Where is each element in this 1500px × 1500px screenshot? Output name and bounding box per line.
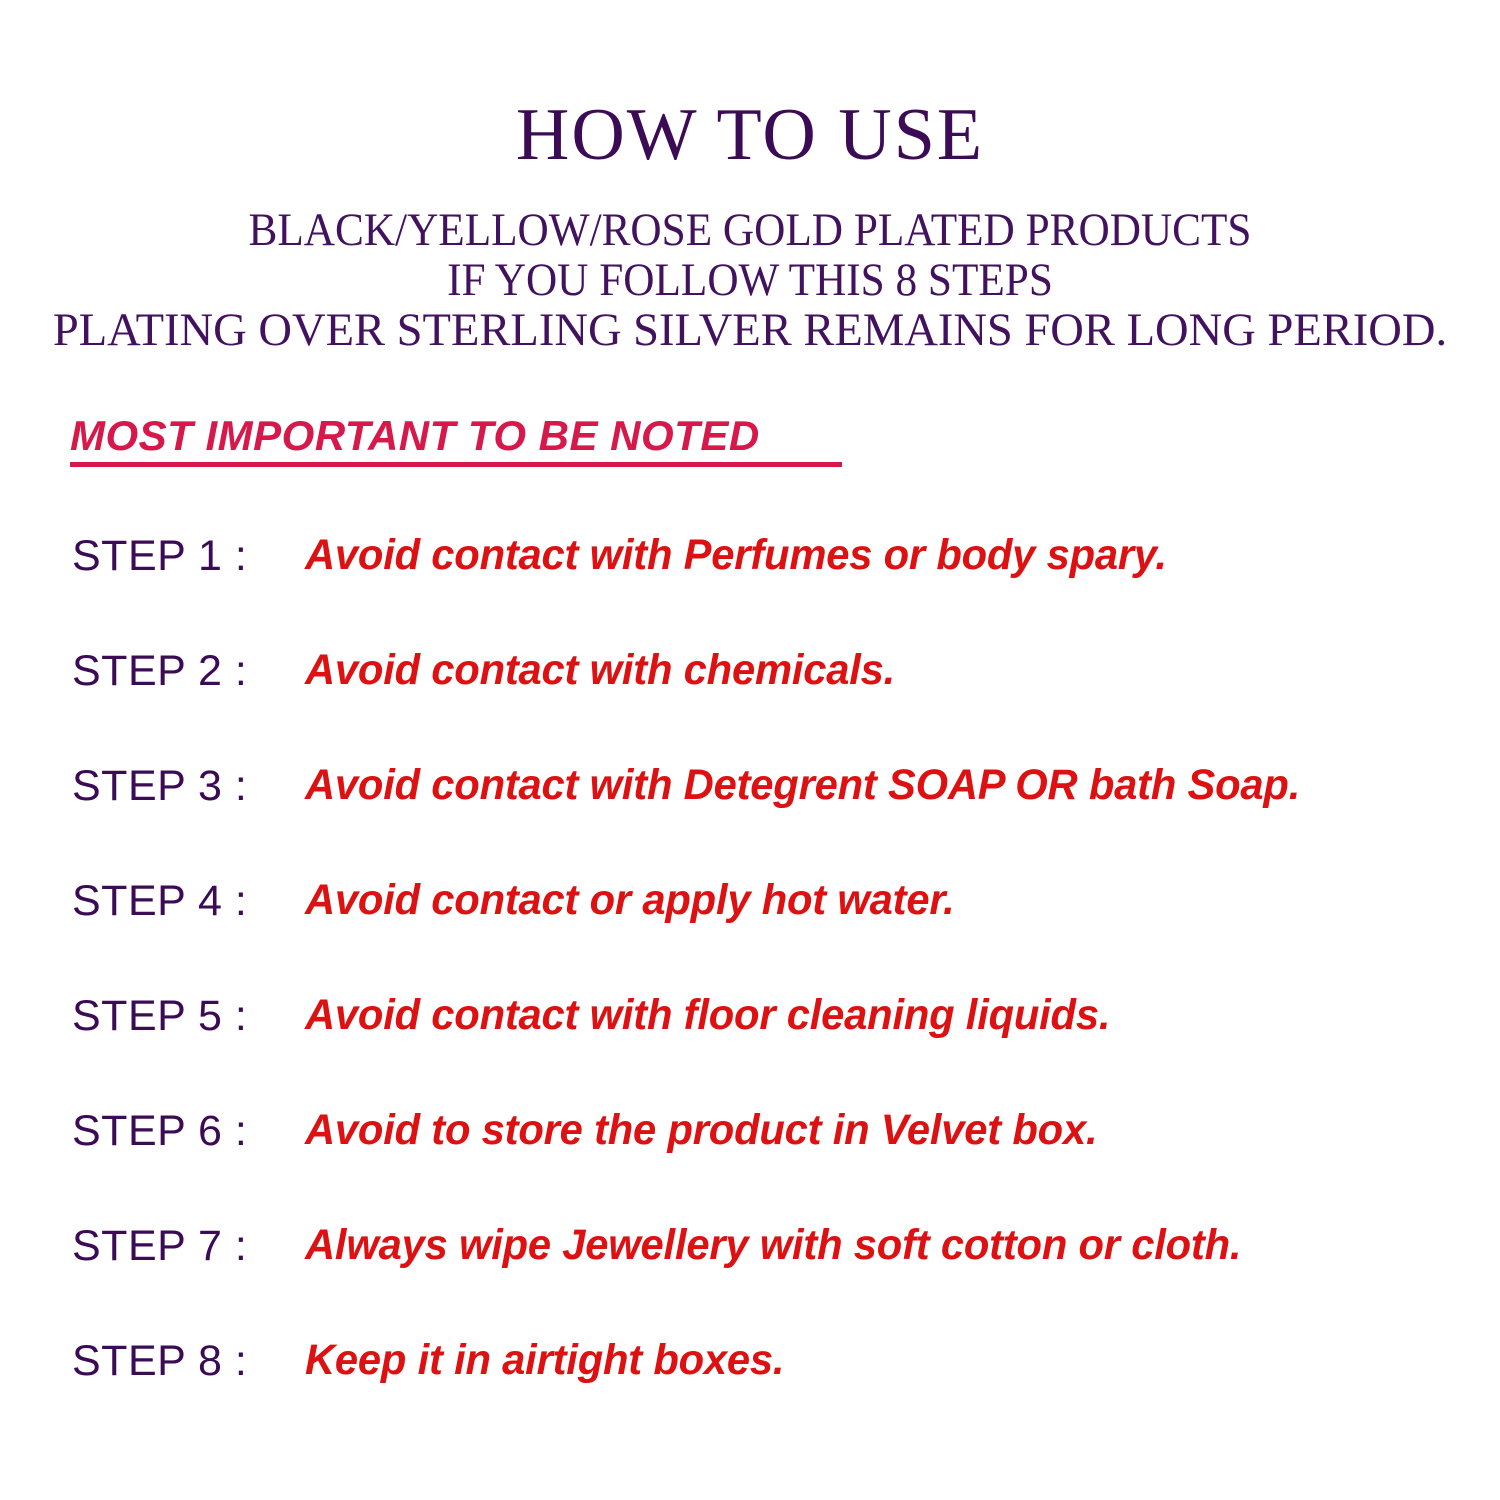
step-label: STEP 2 :	[72, 647, 287, 695]
step-row: STEP 3 : Avoid contact with Detegrent SO…	[0, 750, 1500, 865]
step-label: STEP 7 :	[72, 1222, 287, 1270]
page-title: HOW TO USE	[0, 98, 1500, 172]
step-label: STEP 6 :	[72, 1107, 287, 1155]
step-text: Avoid contact with Perfumes or body spar…	[305, 530, 1167, 580]
step-text: Always wipe Jewellery with soft cotton o…	[305, 1220, 1241, 1270]
step-text: Avoid contact with Detegrent SOAP OR bat…	[305, 760, 1300, 810]
step-label: STEP 4 :	[72, 877, 287, 925]
steps-list: STEP 1 : Avoid contact with Perfumes or …	[0, 520, 1500, 1440]
step-row: STEP 1 : Avoid contact with Perfumes or …	[0, 520, 1500, 635]
step-text: Avoid contact with floor cleaning liquid…	[305, 990, 1110, 1040]
step-text: Avoid contact or apply hot water.	[305, 875, 954, 925]
subtitle-line-1: BLACK/YELLOW/ROSE GOLD PLATED PRODUCTS	[60, 205, 1440, 255]
step-label: STEP 5 :	[72, 992, 287, 1040]
subtitle-line-3: PLATING OVER STERLING SILVER REMAINS FOR…	[8, 305, 1493, 355]
step-row: STEP 5 : Avoid contact with floor cleani…	[0, 980, 1500, 1095]
step-row: STEP 7 : Always wipe Jewellery with soft…	[0, 1210, 1500, 1325]
subtitle-block: BLACK/YELLOW/ROSE GOLD PLATED PRODUCTS I…	[0, 205, 1500, 355]
step-row: STEP 2 : Avoid contact with chemicals.	[0, 635, 1500, 750]
how-to-use-care-instructions-page: HOW TO USE BLACK/YELLOW/ROSE GOLD PLATED…	[0, 0, 1500, 1500]
step-label: STEP 3 :	[72, 762, 287, 810]
step-text: Keep it in airtight boxes.	[305, 1335, 784, 1385]
important-notice-underline	[70, 462, 842, 467]
step-row: STEP 4 : Avoid contact or apply hot wate…	[0, 865, 1500, 980]
subtitle-line-2: IF YOU FOLLOW THIS 8 STEPS	[60, 255, 1440, 305]
step-row: STEP 8 : Keep it in airtight boxes.	[0, 1325, 1500, 1440]
step-row: STEP 6 : Avoid to store the product in V…	[0, 1095, 1500, 1210]
step-text: Avoid to store the product in Velvet box…	[305, 1105, 1097, 1155]
step-text: Avoid contact with chemicals.	[305, 645, 895, 695]
step-label: STEP 1 :	[72, 532, 287, 580]
step-label: STEP 8 :	[72, 1337, 287, 1385]
important-notice-heading: MOST IMPORTANT TO BE NOTED	[70, 412, 760, 460]
